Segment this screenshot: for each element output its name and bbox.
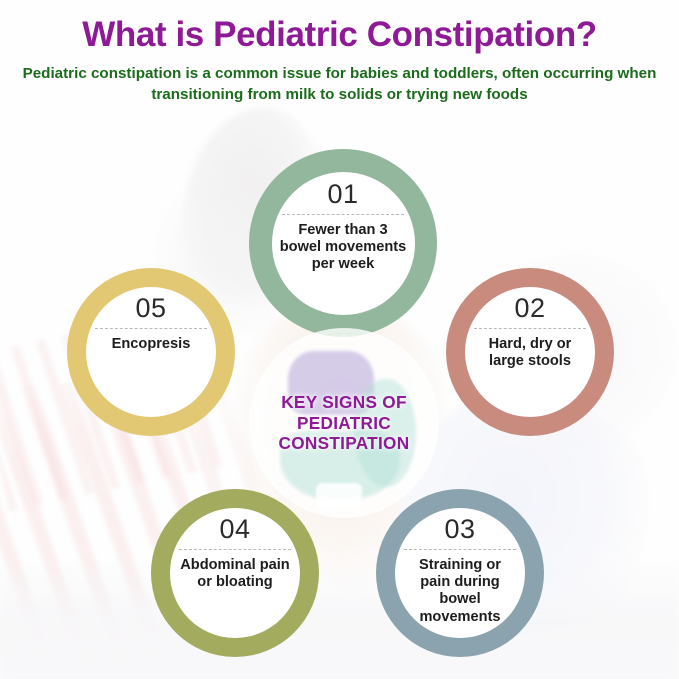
diagram-node-04[interactable]: 04 Abdominal pain or bloating: [151, 489, 319, 657]
header: What is Pediatric Constipation? Pediatri…: [0, 0, 679, 106]
diagram-node-04-divider: [179, 549, 291, 550]
diagram-node-02-divider: [474, 328, 586, 329]
hub-toy-highlight-shape: [316, 483, 362, 509]
diagram-node-05[interactable]: 05 Encopresis: [67, 268, 235, 436]
diagram-node-02[interactable]: 02 Hard, dry or large stools: [446, 268, 614, 436]
diagram-node-03-number: 03: [444, 515, 475, 543]
diagram-node-02-label: Hard, dry or large stools: [465, 336, 595, 370]
diagram-node-05-label: Encopresis: [104, 336, 199, 353]
diagram-center-hub-label: KEY SIGNS OF PEDIATRIC CONSTIPATION: [254, 392, 434, 455]
diagram-node-03-label: Straining or pain during bowel movements: [395, 557, 525, 625]
diagram-node-01-divider: [282, 214, 405, 215]
diagram-node-03[interactable]: 03 Straining or pain during bowel moveme…: [376, 489, 544, 657]
diagram-node-04-number: 04: [219, 515, 250, 543]
page-title: What is Pediatric Constipation?: [14, 16, 665, 54]
diagram-node-02-inner: 02 Hard, dry or large stools: [465, 287, 595, 417]
diagram-node-02-number: 02: [514, 294, 545, 322]
diagram-node-03-inner: 03 Straining or pain during bowel moveme…: [395, 508, 525, 638]
diagram-node-03-divider: [404, 549, 516, 550]
diagram-node-04-inner: 04 Abdominal pain or bloating: [170, 508, 300, 638]
diagram-node-04-label: Abdominal pain or bloating: [170, 557, 300, 591]
diagram-node-05-inner: 05 Encopresis: [86, 287, 216, 417]
diagram-node-01-inner: 01 Fewer than 3 bowel movements per week: [272, 172, 415, 315]
diagram-node-05-divider: [95, 328, 207, 329]
diagram-node-01-number: 01: [327, 180, 358, 208]
page-subtitle: Pediatric constipation is a common issue…: [14, 63, 665, 106]
diagram-node-01[interactable]: 01 Fewer than 3 bowel movements per week: [249, 149, 437, 337]
diagram-node-01-label: Fewer than 3 bowel movements per week: [272, 222, 415, 273]
diagram-node-05-number: 05: [135, 294, 166, 322]
diagram-center-hub[interactable]: KEY SIGNS OF PEDIATRIC CONSTIPATION: [254, 333, 434, 513]
